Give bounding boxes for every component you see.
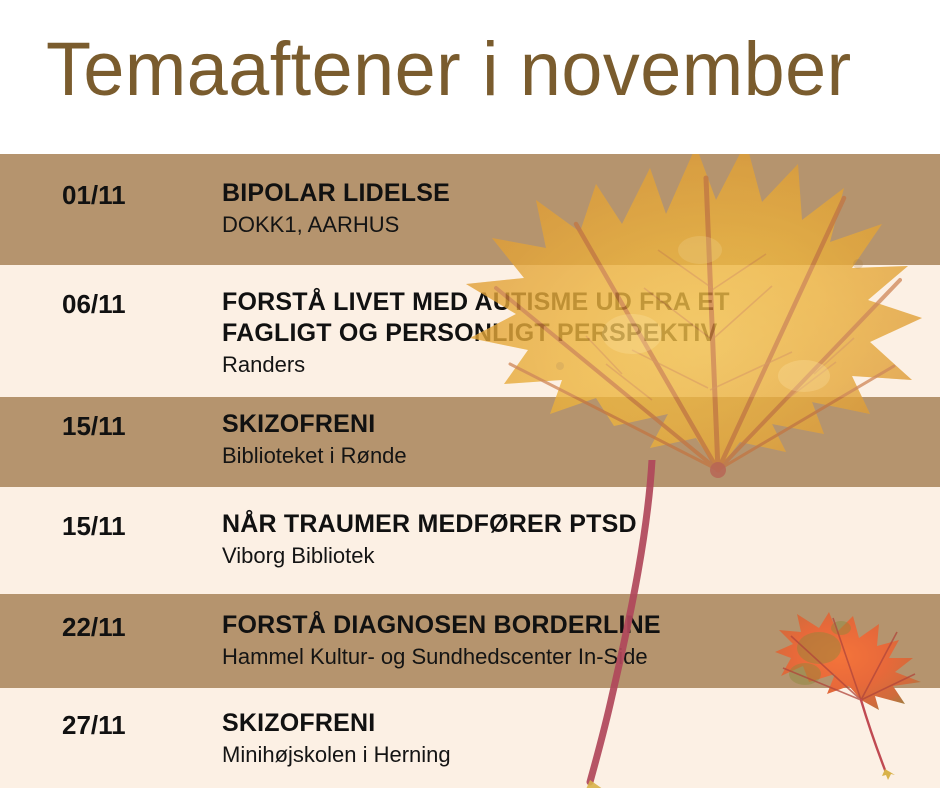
event-title: NÅR TRAUMER MEDFØRER PTSD (222, 509, 922, 540)
event-date: 06/11 (62, 289, 212, 319)
event-body: SKIZOFRENI Minihøjskolen i Herning (222, 708, 922, 768)
event-list: 01/11 BIPOLAR LIDELSE DOKK1, AARHUS 06/1… (0, 154, 940, 788)
event-row: 06/11 FORSTÅ LIVET MED AUTISME UD FRA ET… (0, 265, 940, 397)
event-row: 27/11 SKIZOFRENI Minihøjskolen i Herning (0, 688, 940, 788)
event-body: FORSTÅ LIVET MED AUTISME UD FRA ET FAGLI… (222, 287, 922, 378)
event-row: 01/11 BIPOLAR LIDELSE DOKK1, AARHUS (0, 154, 940, 265)
event-title: SKIZOFRENI (222, 708, 922, 739)
event-venue: Minihøjskolen i Herning (222, 741, 922, 768)
event-title: FORSTÅ DIAGNOSEN BORDERLINE (222, 610, 922, 641)
page-title: Temaaftener i november (46, 28, 880, 112)
event-date: 27/11 (62, 710, 212, 740)
event-body: BIPOLAR LIDELSE DOKK1, AARHUS (222, 178, 922, 238)
event-venue: Randers (222, 351, 922, 378)
event-title: BIPOLAR LIDELSE (222, 178, 922, 209)
event-row: 15/11 NÅR TRAUMER MEDFØRER PTSD Viborg B… (0, 487, 940, 594)
poster-canvas: 01/11 BIPOLAR LIDELSE DOKK1, AARHUS 06/1… (0, 0, 940, 788)
event-body: NÅR TRAUMER MEDFØRER PTSD Viborg Bibliot… (222, 509, 922, 569)
event-date: 15/11 (62, 511, 212, 541)
event-title: FORSTÅ LIVET MED AUTISME UD FRA ET FAGLI… (222, 287, 922, 349)
event-title: SKIZOFRENI (222, 409, 922, 440)
event-body: SKIZOFRENI Biblioteket i Rønde (222, 409, 922, 469)
event-venue: DOKK1, AARHUS (222, 211, 922, 238)
event-venue: Hammel Kultur- og Sundhedscenter In-Side (222, 643, 922, 670)
event-date: 22/11 (62, 612, 212, 642)
event-date: 01/11 (62, 180, 212, 210)
event-body: FORSTÅ DIAGNOSEN BORDERLINE Hammel Kultu… (222, 610, 922, 670)
poster-header: Temaaftener i november (0, 0, 940, 154)
event-venue: Viborg Bibliotek (222, 542, 922, 569)
event-date: 15/11 (62, 411, 212, 441)
event-venue: Biblioteket i Rønde (222, 442, 922, 469)
event-row: 22/11 FORSTÅ DIAGNOSEN BORDERLINE Hammel… (0, 594, 940, 688)
event-row: 15/11 SKIZOFRENI Biblioteket i Rønde (0, 397, 940, 487)
